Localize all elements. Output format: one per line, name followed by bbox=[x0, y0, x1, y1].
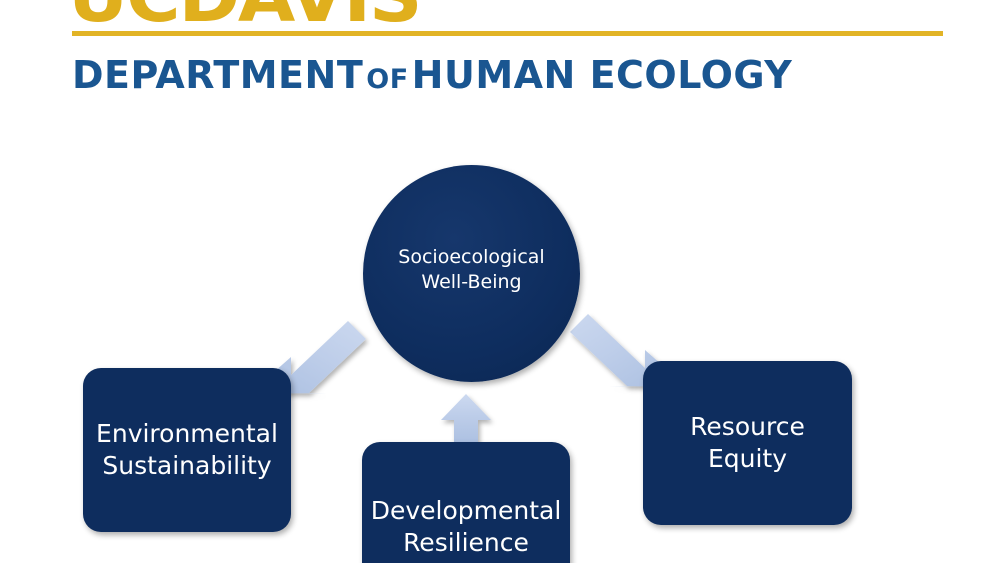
hub-label-line2: Well-Being bbox=[421, 271, 521, 293]
arrow-developmental-to-hub bbox=[441, 394, 491, 448]
hub-label-line1: Socioecological bbox=[398, 246, 544, 268]
node-resource-line2: Equity bbox=[708, 444, 787, 473]
department-title: DEPARTMENTOFHUMAN ECOLOGY bbox=[72, 52, 972, 106]
socioecological-diagram: Socioecological Well-Being Environmental… bbox=[0, 110, 1000, 563]
node-resource-label: Resource Equity bbox=[682, 411, 813, 475]
node-developmental-line1: Developmental bbox=[371, 496, 562, 525]
department-word-primary: DEPARTMENT bbox=[72, 53, 363, 97]
node-environmental-sustainability[interactable]: Environmental Sustainability bbox=[83, 368, 291, 532]
department-word-connector: OF bbox=[363, 64, 411, 95]
slide-canvas: UCDAVIS DEPARTMENTOFHUMAN ECOLOGY bbox=[0, 0, 1000, 563]
department-word-secondary: HUMAN ECOLOGY bbox=[412, 53, 793, 97]
uc-davis-brand-header: UCDAVIS DEPARTMENTOFHUMAN ECOLOGY bbox=[0, 0, 1000, 110]
node-resource-line1: Resource bbox=[690, 412, 805, 441]
brand-gold-rule bbox=[72, 31, 943, 36]
node-environmental-label: Environmental Sustainability bbox=[88, 418, 286, 482]
node-developmental-line2: Resilience bbox=[403, 528, 529, 557]
node-resource-equity[interactable]: Resource Equity bbox=[643, 361, 852, 525]
node-environmental-line2: Sustainability bbox=[102, 451, 271, 480]
node-developmental-label: Developmental Resilience bbox=[363, 495, 570, 559]
uc-davis-wordmark: UCDAVIS bbox=[68, 0, 420, 32]
node-environmental-line1: Environmental bbox=[96, 419, 278, 448]
hub-label: Socioecological Well-Being bbox=[390, 245, 552, 294]
node-developmental-resilience[interactable]: Developmental Resilience bbox=[362, 442, 570, 563]
hub-socioecological-well-being[interactable]: Socioecological Well-Being bbox=[363, 165, 580, 382]
